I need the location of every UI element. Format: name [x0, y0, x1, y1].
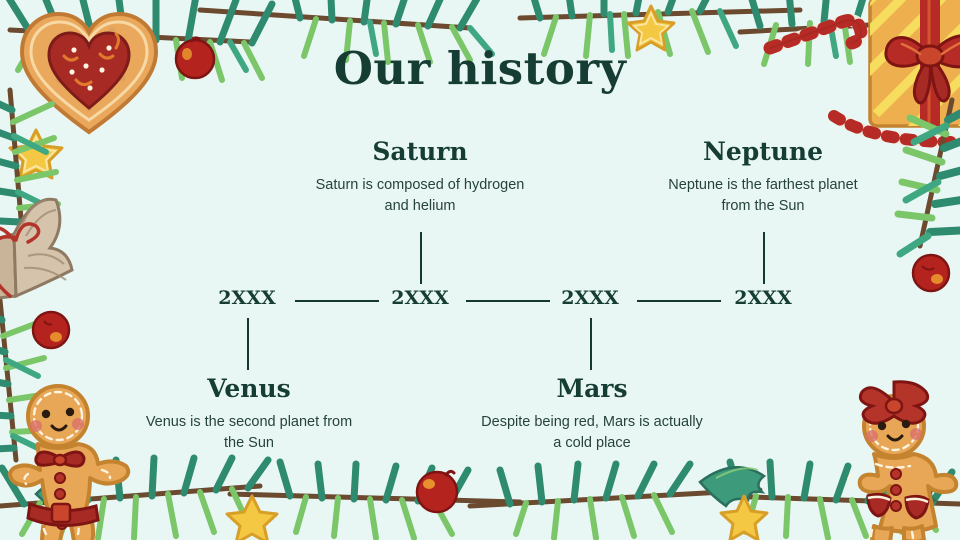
- timeline-entry-title: Neptune: [653, 138, 873, 166]
- page-title: Our history: [0, 46, 960, 91]
- timeline-entry-description: Neptune is the farthest planet from the …: [653, 175, 873, 217]
- timeline-stem-saturn: [420, 232, 422, 284]
- timeline-entry-description: Venus is the second planet from the Sun: [137, 412, 361, 454]
- timeline-entry-title: Venus: [137, 375, 361, 403]
- timeline-entry-neptune: Neptune Neptune is the farthest planet f…: [653, 138, 873, 217]
- timeline-stem-neptune: [763, 232, 765, 284]
- timeline-entry-description: Despite being red, Mars is actually a co…: [478, 412, 706, 454]
- timeline-stem-mars: [590, 318, 592, 370]
- timeline-stem-venus: [247, 318, 249, 370]
- timeline-marker-4: 2XXX: [703, 289, 823, 308]
- timeline-entry-title: Saturn: [310, 138, 530, 166]
- timeline-entry-description: Saturn is composed of hydrogen and heliu…: [310, 175, 530, 217]
- timeline-entry-mars: Mars Despite being red, Mars is actually…: [478, 375, 706, 454]
- slide: Our history Saturn Saturn is composed of…: [0, 0, 960, 540]
- timeline-entry-venus: Venus Venus is the second planet from th…: [137, 375, 361, 454]
- timeline-marker-3: 2XXX: [530, 289, 650, 308]
- timeline-entry-saturn: Saturn Saturn is composed of hydrogen an…: [310, 138, 530, 217]
- timeline-marker-1: 2XXX: [187, 289, 307, 308]
- timeline-marker-2: 2XXX: [360, 289, 480, 308]
- timeline-entry-title: Mars: [478, 375, 706, 403]
